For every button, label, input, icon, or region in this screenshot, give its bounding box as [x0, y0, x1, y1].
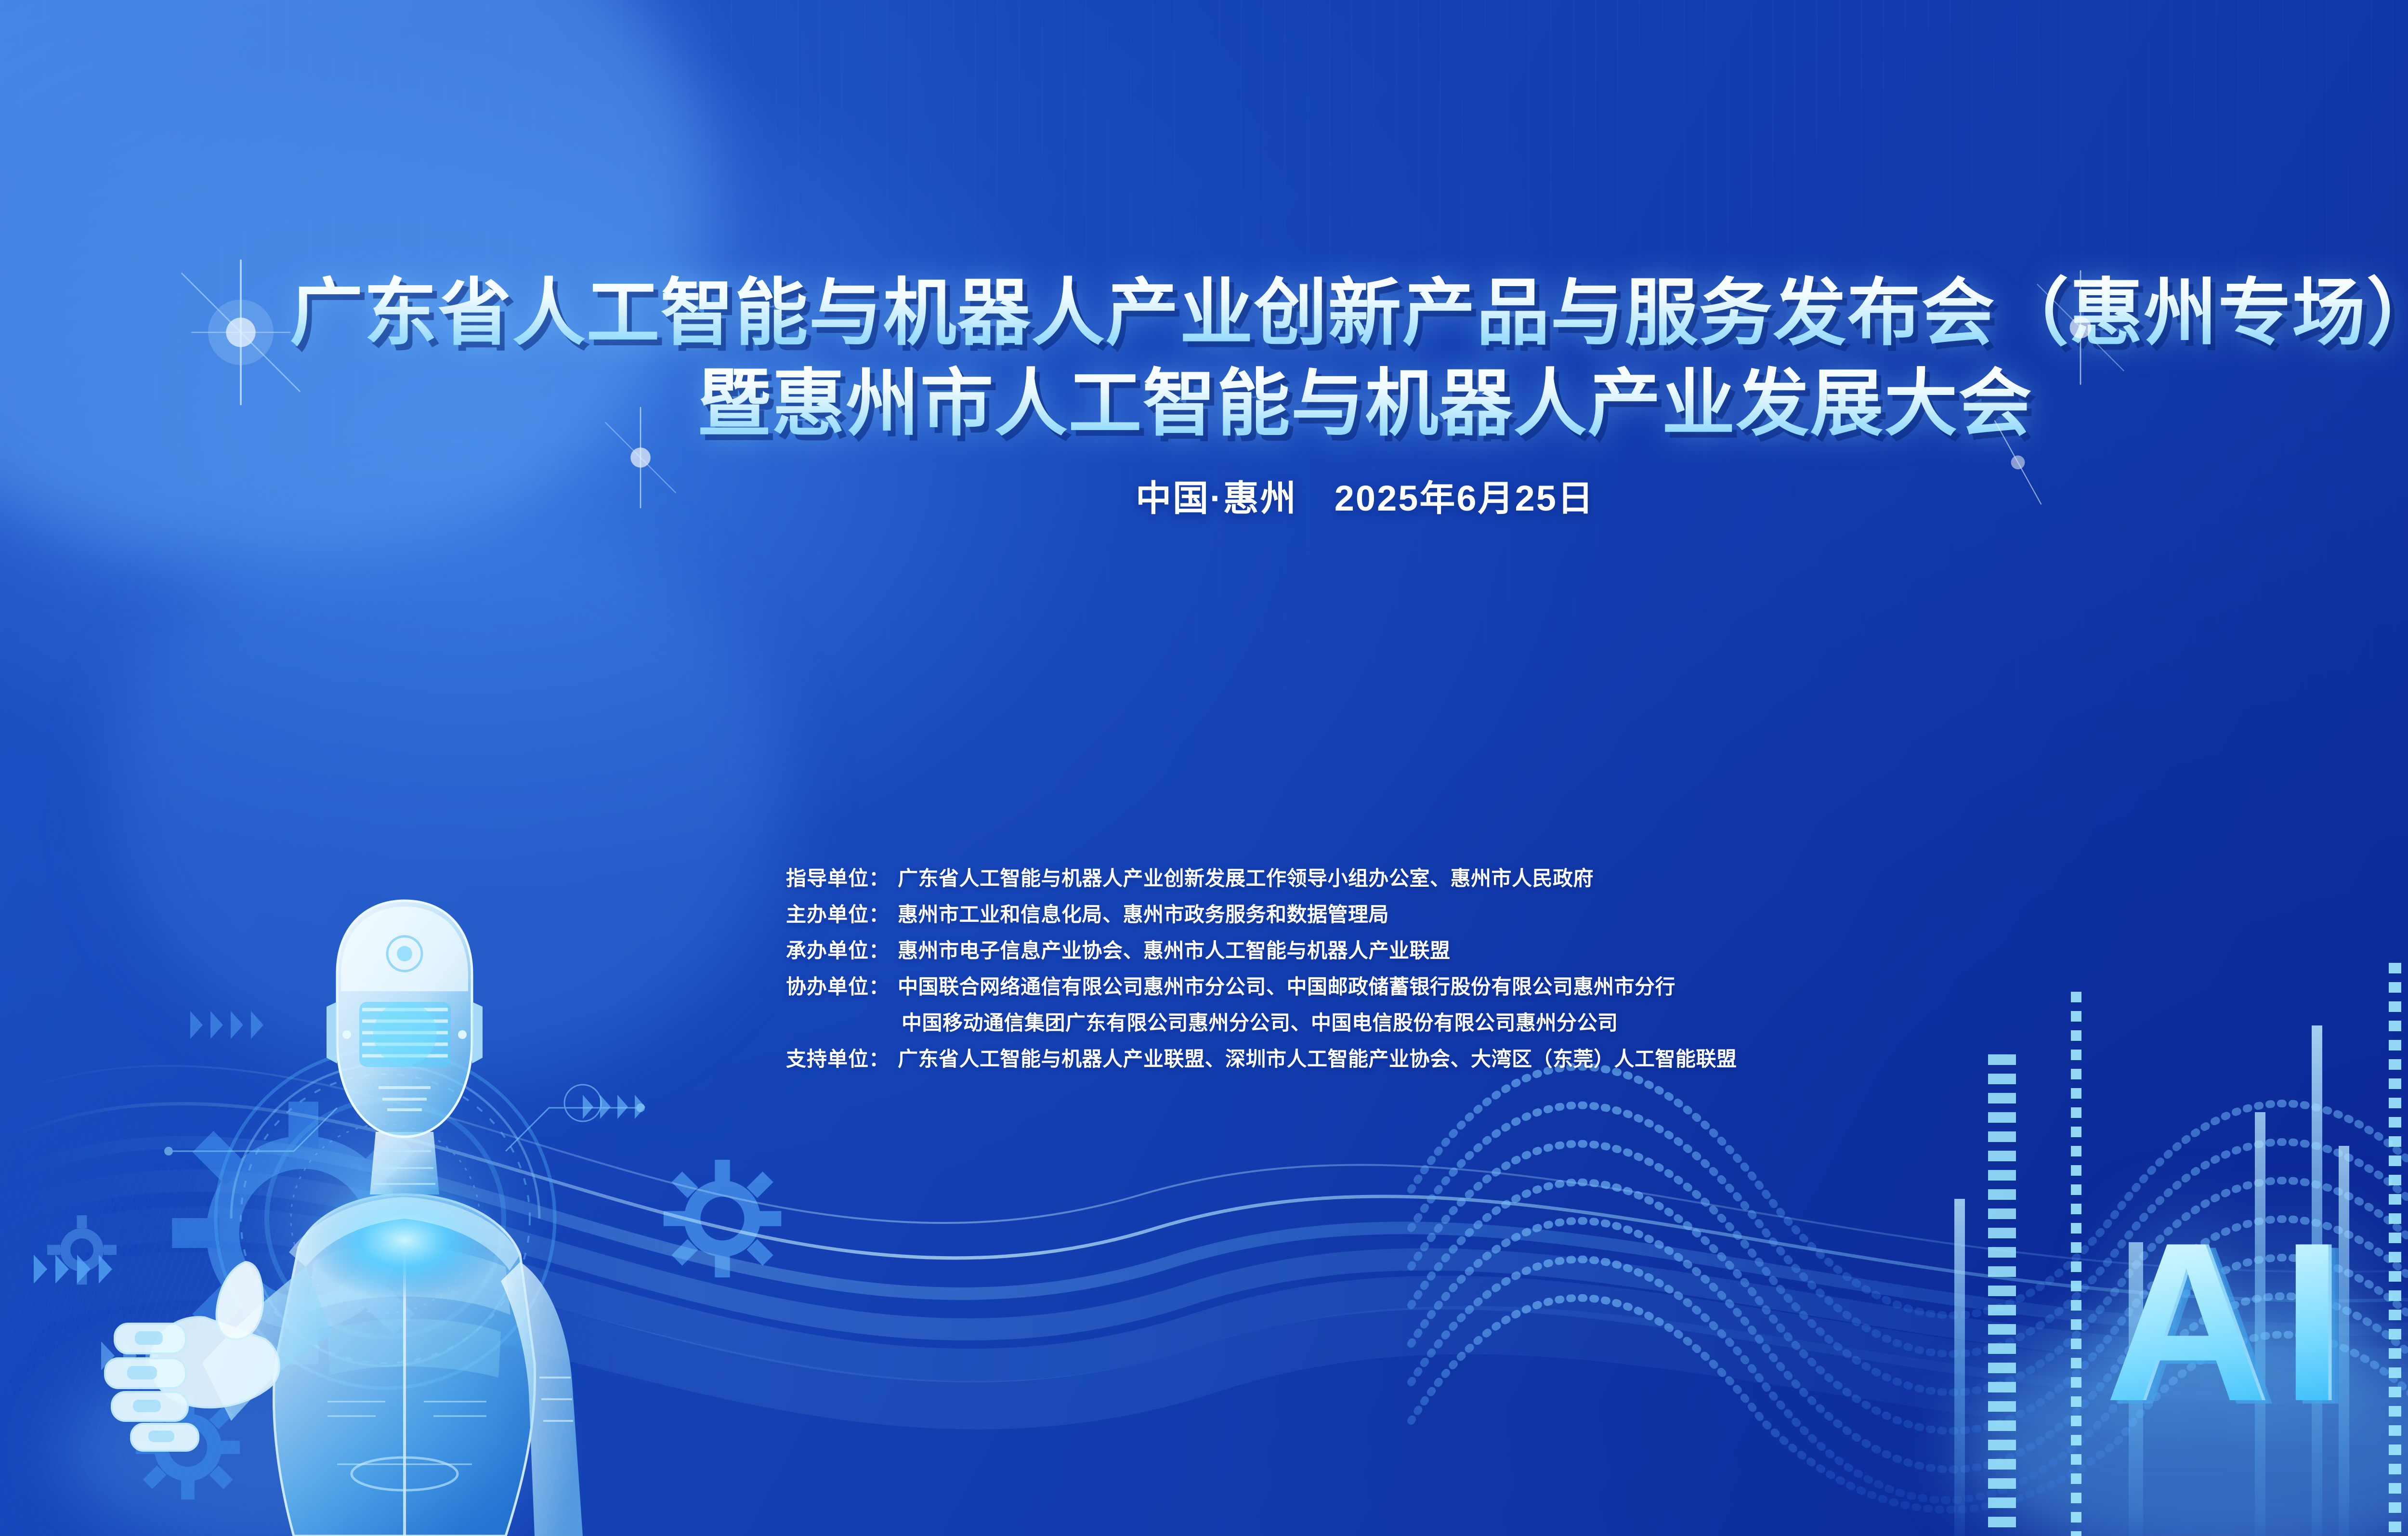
page-title-line-1: 广东省人工智能与机器人产业创新产品与服务发布会（惠州专场） — [0, 272, 2408, 354]
headline-block: 广东省人工智能与机器人产业创新产品与服务发布会（惠州专场） 暨惠州市人工智能与机… — [0, 272, 2408, 521]
equalizer-bar — [1988, 1054, 2016, 1536]
event-subtitle: 中国·惠州 2025年6月25日 — [0, 470, 2408, 521]
organizer-label: 协办单位： — [786, 971, 898, 1000]
organizer-label: 指导单位： — [786, 862, 898, 892]
equalizer-bar — [2389, 963, 2401, 1536]
robot-illustration — [87, 881, 722, 1536]
organizer-label: 支持单位： — [786, 1043, 898, 1072]
organizer-label: 主办单位： — [786, 898, 898, 928]
organizer-value: 广东省人工智能与机器人产业创新发展工作领导小组办公室、惠州市人民政府 — [898, 862, 1594, 892]
organizer-row: 支持单位： 广东省人工智能与机器人产业联盟、深圳市人工智能产业协会、大湾区（东莞… — [786, 1043, 1737, 1072]
event-backdrop: 广东省人工智能与机器人产业创新产品与服务发布会（惠州专场） 暨惠州市人工智能与机… — [0, 0, 2408, 1536]
organizer-row: 协办单位： 中国联合网络通信有限公司惠州市分公司、中国邮政储蓄银行股份有限公司惠… — [786, 971, 1737, 1000]
equalizer-bar — [1954, 1199, 1965, 1536]
organizer-row: 指导单位： 广东省人工智能与机器人产业创新发展工作领导小组办公室、惠州市人民政府 — [786, 862, 1737, 892]
organizers-list: 指导单位： 广东省人工智能与机器人产业创新发展工作领导小组办公室、惠州市人民政府… — [786, 862, 1737, 1072]
equalizer-bar — [2071, 992, 2081, 1536]
organizer-value: 惠州市电子信息产业协会、惠州市人工智能与机器人产业联盟 — [898, 934, 1451, 964]
organizer-row: 主办单位： 惠州市工业和信息化局、惠州市政务服务和数据管理局 — [786, 898, 1737, 928]
page-title-line-2: 暨惠州市人工智能与机器人产业发展大会 — [0, 363, 2408, 445]
organizer-value: 中国联合网络通信有限公司惠州市分公司、中国邮政储蓄银行股份有限公司惠州市分行 — [898, 971, 1675, 1000]
ai-wordmark: AI — [2105, 1209, 2356, 1435]
organizer-value: 广东省人工智能与机器人产业联盟、深圳市人工智能产业协会、大湾区（东莞）人工智能联… — [898, 1043, 1737, 1072]
robot-head — [327, 901, 483, 1137]
organizer-label: 承办单位： — [786, 934, 898, 964]
organizer-row: 承办单位： 惠州市电子信息产业协会、惠州市人工智能与机器人产业联盟 — [786, 934, 1737, 964]
organizer-value: 中国移动通信集团广东有限公司惠州分公司、中国电信股份有限公司惠州分公司 — [898, 1007, 1618, 1036]
organizer-row-continuation: 协办单位： 中国移动通信集团广东有限公司惠州分公司、中国电信股份有限公司惠州分公… — [786, 1007, 1737, 1036]
organizer-value: 惠州市工业和信息化局、惠州市政务服务和数据管理局 — [898, 898, 1389, 928]
